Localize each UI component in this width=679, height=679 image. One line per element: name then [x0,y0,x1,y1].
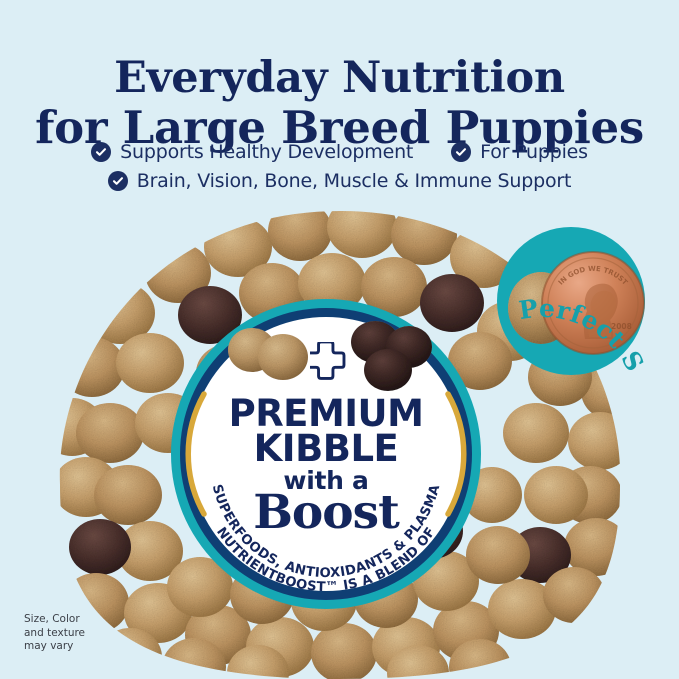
bullet-item-for-puppies: For Puppies [451,141,588,163]
product-marketing-image: Everyday Nutrition for Large Breed Puppi… [0,0,679,679]
bullet-item-supports-healthy-development: Supports Healthy Development [91,141,413,163]
bullet-row-2: Brain, Vision, Bone, Muscle & Immune Sup… [0,166,679,195]
bullet-label: Brain, Vision, Bone, Muscle & Immune Sup… [137,170,572,192]
check-circle-icon [91,142,111,162]
penny-coin-icon: IN GOD WE TRUST 2008 [542,252,644,354]
bullet-label: Supports Healthy Development [120,141,413,163]
check-circle-icon [451,142,471,162]
check-circle-icon [108,171,128,191]
bullet-row-1: Supports Healthy Development For Puppies [0,137,679,166]
headline-line-1: Everyday Nutrition [114,53,565,103]
disclaimer-text: Size, Color and texture may vary [24,613,85,654]
perfect-size-badge: IN GOD WE TRUST 2008 Perfect Size! [489,203,679,378]
premium-kibble-badge: NUTRIENTBOOST™ IS A BLEND OF SUPERFOODS,… [170,298,482,610]
benefit-bullet-list: Supports Healthy Development For Puppies… [0,137,679,195]
bullet-item-brain-vision-bone-muscle-immune: Brain, Vision, Bone, Muscle & Immune Sup… [108,170,572,192]
bullet-label: For Puppies [480,141,588,163]
